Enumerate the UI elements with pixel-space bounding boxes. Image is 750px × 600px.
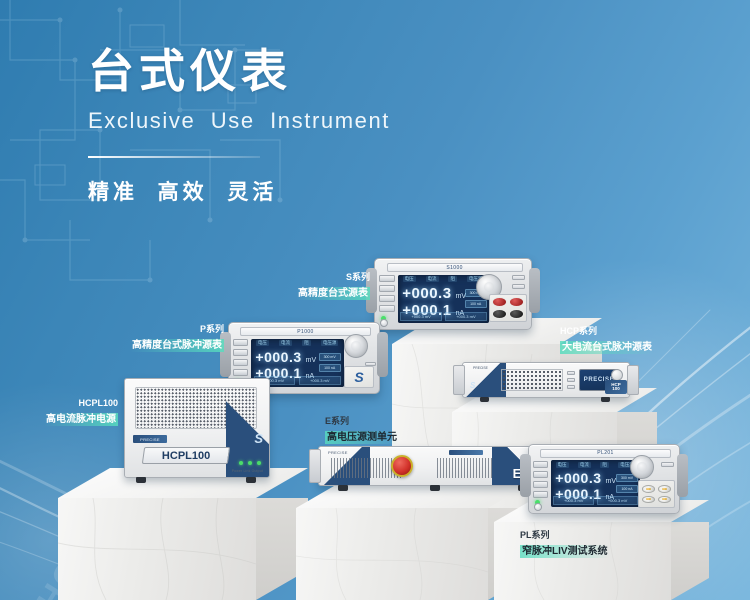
lcd-footer-1: +000.3 mV <box>445 312 486 321</box>
instrument-pl-series[interactable]: PL201 电压 电流 阻 电压源 +000.3 mV +000.1 nA <box>528 444 680 514</box>
lcd-footer-0: +000.3 mV <box>553 496 593 505</box>
lcd-footer-0: +000.3 mV <box>400 312 441 321</box>
headline-block: 台式仪表 Exclusive Use Instrument 精准 高效 灵活 <box>88 44 390 206</box>
chassis-foot-left <box>480 397 489 402</box>
lcd-value-1: +000.3 <box>555 470 601 486</box>
hcpl100-status-text: Power Link Output <box>232 469 263 473</box>
pl-series-model-label: PL201 <box>597 450 613 456</box>
p-series-model-label: P1000 <box>297 329 313 335</box>
bnc-connector-4[interactable] <box>658 496 671 504</box>
lcd-footer-1: +000.3 mV <box>597 496 637 505</box>
precise-logo-icon: S <box>354 369 363 385</box>
label-hcp-series: HCP系列 大电流台式脉冲源表 <box>560 326 690 355</box>
label-hcpl100: HCPL100 高电流脉冲电源 <box>8 398 118 427</box>
status-led-group <box>239 461 261 465</box>
lcd-tab-bar: 电压 电流 阻 电压源 <box>251 339 344 347</box>
lcd-tab-bar: 电压 电流 阻 电压源 <box>551 460 641 468</box>
pedestal-hcpl100 <box>58 468 308 600</box>
usb-port[interactable] <box>512 275 525 280</box>
lcd-footer-bar: +000.3 mV +000.3 mV <box>400 312 486 321</box>
p-series-softkeys[interactable] <box>233 339 248 379</box>
emergency-stop-button[interactable] <box>391 455 413 477</box>
lcd-range-chips: 300 mV 100 nA <box>319 353 341 375</box>
label-p-series-desc: 高精度台式脉冲源表 <box>130 339 224 352</box>
output-terminal-block[interactable] <box>489 294 527 322</box>
chassis-foot-1 <box>338 485 348 491</box>
bnc-connector-panel[interactable] <box>638 480 675 508</box>
label-s-series: S系列 高精度台式源表 <box>258 272 370 301</box>
rack-ear-right <box>627 365 639 395</box>
instrument-e-series[interactable]: PRECISE S E300 <box>318 446 554 486</box>
label-pl-series-desc: 窄脉冲LIV测试系统 <box>520 545 610 558</box>
lcd-unit-1: mV <box>306 357 317 364</box>
label-s-series-title: S系列 <box>258 272 370 283</box>
lcd-tab-2: 阻 <box>448 276 457 282</box>
label-e-series-desc: 高电压源测单元 <box>325 431 399 444</box>
instrument-s-series[interactable]: S1000 电压 电流 阻 电压源 +000.3 mV +000.1 nA <box>374 258 532 330</box>
terminal-black-hi[interactable] <box>492 309 507 319</box>
instrument-hcpl100[interactable]: PRECISE S HCPL100 Power Link Output <box>124 378 270 478</box>
lcd-tab-2: 阻 <box>600 462 609 468</box>
page-subtitle-cn: 精准 高效 灵活 <box>88 176 390 206</box>
hcpl100-brand-plate: PRECISE <box>133 435 167 443</box>
usb-port-secondary[interactable] <box>512 284 525 289</box>
vent-grille <box>501 369 563 391</box>
lcd-tab-1: 电流 <box>279 340 292 346</box>
hcp-keypad[interactable] <box>567 369 575 391</box>
label-p-series-title: P系列 <box>108 324 224 335</box>
lcd-tab-bar: 电压 电流 阻 电压源 <box>398 275 490 283</box>
page-title-en: Exclusive Use Instrument <box>88 108 390 134</box>
bnc-connector-2[interactable] <box>658 485 671 493</box>
lcd-range-chip-1: 100 nA <box>465 300 487 308</box>
label-hcp-series-desc: 大电流台式脉冲源表 <box>560 341 654 354</box>
rack-ear-left <box>309 449 321 483</box>
s-series-brand-bar: S1000 <box>387 263 523 272</box>
label-e-series-title: E系列 <box>325 416 445 427</box>
chassis-foot-2 <box>430 485 440 491</box>
s-series-model-label: S1000 <box>446 265 462 271</box>
led-link <box>248 461 252 465</box>
label-hcpl100-desc: 高电流脉冲电源 <box>44 413 118 426</box>
hcp-brand-label: PRECISE <box>473 366 488 370</box>
lcd-range-chip-1: 100 nA <box>616 485 638 493</box>
pl-series-brand-bar: PL201 <box>540 449 671 458</box>
lcd-tab-0: 电压 <box>556 462 569 468</box>
lcd-footer-1: +000.3 mV <box>299 376 341 385</box>
lcd-range-chips: 300 mV 100 nA <box>616 474 638 496</box>
chassis-foot-right <box>601 397 610 402</box>
bnc-connector-1[interactable] <box>642 485 655 493</box>
s-series-lcd-display: 电压 电流 阻 电压源 +000.3 mV +000.1 nA 300 mV 1… <box>398 275 490 323</box>
hcpl100-model-label: HCPL100 <box>162 450 210 462</box>
rack-ear-left <box>453 365 465 395</box>
hcp-model-number: 100 <box>612 387 620 392</box>
precise-logo-icon: S <box>470 381 475 390</box>
terminal-black-lo[interactable] <box>509 309 524 319</box>
label-hcp-series-title: HCP系列 <box>560 326 690 337</box>
pl-series-lcd-display: 电压 电流 阻 电压源 +000.3 mV +000.1 nA 300 mV 1… <box>551 460 641 507</box>
brand-logo-panel: S <box>344 366 374 388</box>
banner-stage: HCPL100 台式仪表 Exclusive Use Instrument 精准… <box>0 0 750 600</box>
lcd-range-chip-0: 300 mV <box>319 353 341 361</box>
lcd-range-chip-1: 100 nA <box>319 364 341 372</box>
usb-port[interactable] <box>661 462 674 467</box>
label-s-series-desc: 高精度台式源表 <box>296 287 370 300</box>
lcd-value-1: +000.3 <box>402 285 451 302</box>
rotary-knob[interactable] <box>344 334 368 358</box>
hcpl100-model-plate: HCPL100 <box>142 447 230 464</box>
rack-ear-right <box>377 332 388 377</box>
e300-indicator-strip <box>449 450 483 455</box>
led-output <box>257 461 261 465</box>
lcd-value-1: +000.3 <box>255 349 301 365</box>
page-title-cn: 台式仪表 <box>88 44 390 98</box>
pl-series-softkeys[interactable] <box>533 461 548 501</box>
rack-ear-left <box>520 454 531 497</box>
bnc-connector-3[interactable] <box>642 496 655 504</box>
terminal-red-lo[interactable] <box>509 297 524 307</box>
lcd-tab-1: 电流 <box>426 276 439 282</box>
e300-brand-label: PRECISE <box>328 450 348 455</box>
s-series-softkeys[interactable] <box>379 275 395 315</box>
chassis-foot-left <box>136 477 146 483</box>
led-power <box>239 461 243 465</box>
precise-logo-icon: S <box>254 431 263 446</box>
brand-label: PRECISE <box>140 437 160 442</box>
rotary-knob[interactable] <box>630 455 654 479</box>
lcd-footer-bar: +000.3 mV +000.3 mV <box>553 496 637 505</box>
terminal-red-hi[interactable] <box>492 297 507 307</box>
headline-divider <box>88 156 260 158</box>
chassis-foot-right <box>246 477 256 483</box>
rack-ear-right <box>529 268 540 313</box>
pedestal-e-series <box>296 486 526 600</box>
hcp-model-badge: HCP 100 <box>605 380 627 394</box>
label-pl-series-title: PL系列 <box>520 530 646 541</box>
rack-ear-right <box>677 454 688 497</box>
label-pl-series: PL系列 窄脉冲LIV测试系统 <box>520 530 646 559</box>
label-hcpl100-title: HCPL100 <box>8 398 118 409</box>
lcd-tab-2: 阻 <box>302 340 311 346</box>
label-e-series: E系列 高电压源测单元 <box>325 416 445 445</box>
lcd-tab-0: 电压 <box>256 340 269 346</box>
lcd-tab-3: 电压源 <box>321 340 339 346</box>
lcd-tab-0: 电压 <box>403 276 416 282</box>
label-p-series: P系列 高精度台式脉冲源表 <box>108 324 224 353</box>
instrument-hcp-series[interactable]: S PRECISE PRECISE HCP 100 <box>462 362 630 398</box>
lcd-unit-1: mV <box>606 478 617 485</box>
lcd-tab-1: 电流 <box>578 462 591 468</box>
